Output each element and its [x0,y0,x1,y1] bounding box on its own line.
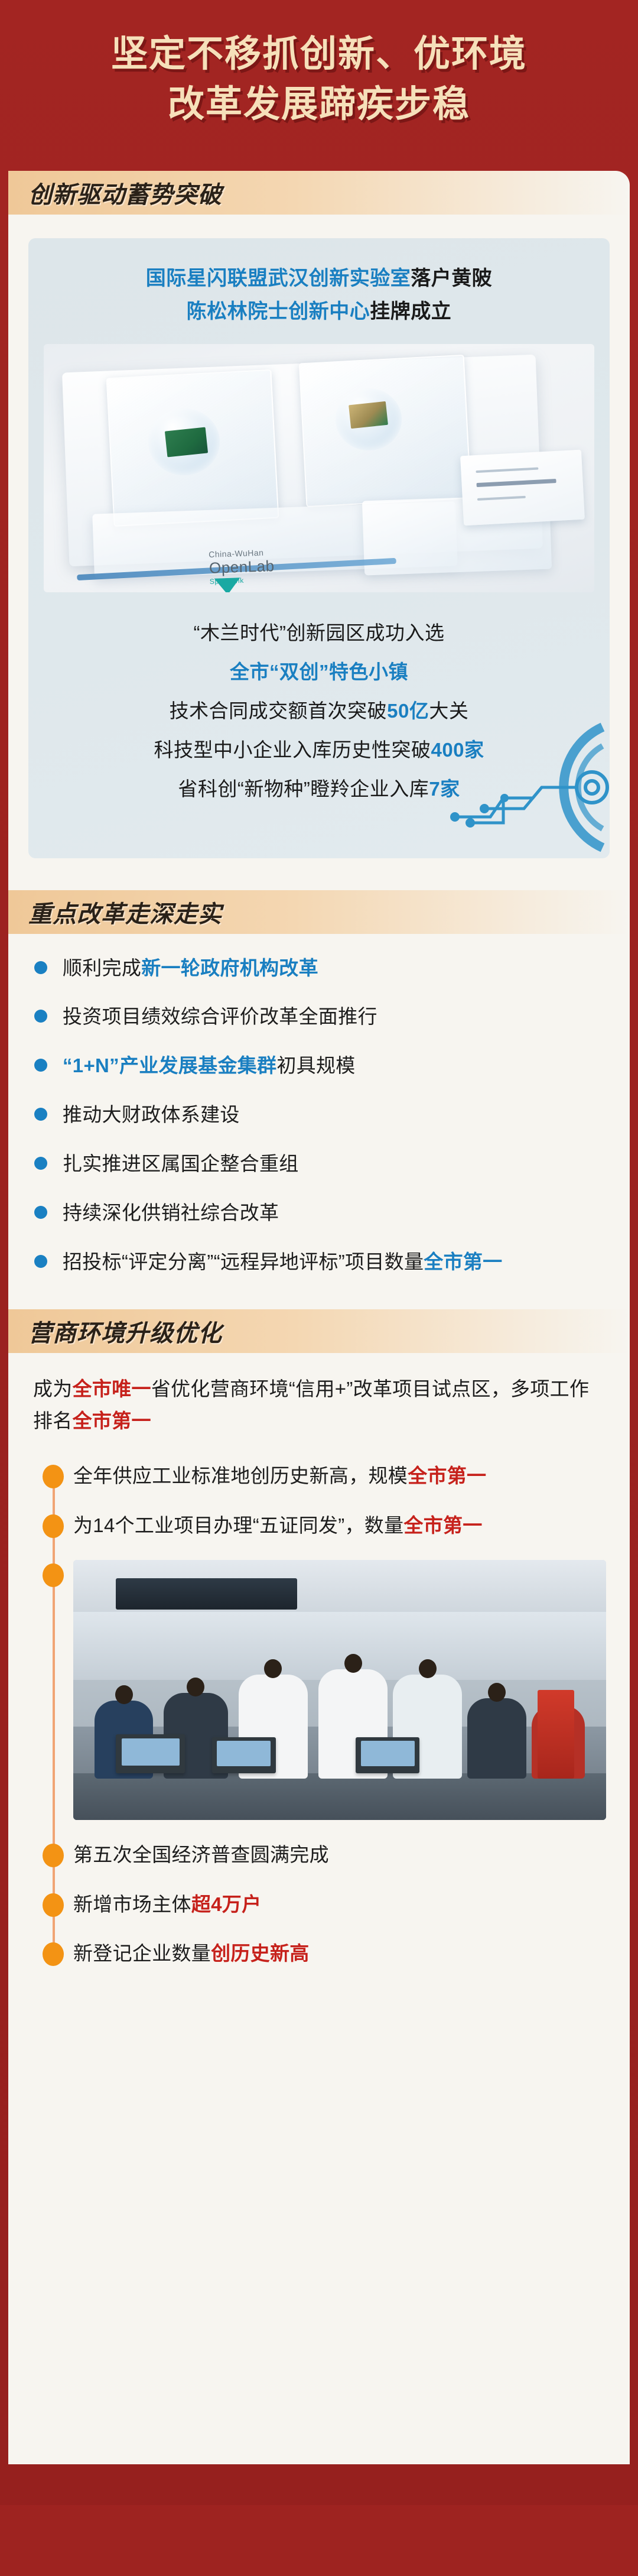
red-standing-banner [538,1690,574,1779]
list-item: 顺利完成新一轮政府机构改革 [34,954,606,983]
timeline-item: 新增市场主体超4万户 [73,1890,606,1919]
text-run: 国际星闪联盟武汉创新实验室 [146,267,411,290]
text-run: 全市第一 [73,1410,151,1432]
innovation-headline: 国际星闪联盟武汉创新实验室落户黄陂 陈松林院士创新中心挂牌成立 [44,262,594,329]
text-run: 推动大财政体系建设 [63,1104,240,1125]
bullet-text: 顺利完成新一轮政府机构改革 [63,954,318,983]
text-run: 持续深化供销社综合改革 [63,1202,279,1224]
bullet-dot-icon [34,1206,47,1219]
achievement-item: 科技型中小企业入库历史性突破400家 [44,731,594,770]
business-env-timeline: 全年供应工业标准地创历史新高，规模全市第一 为14个工业项目办理“五证同发”，数… [43,1461,606,1968]
list-item: 推动大财政体系建设 [34,1101,606,1130]
achievement-item: 全市“双创”特色小镇 [44,653,594,692]
bullet-text: 招投标“评定分离”“远程异地评标”项目数量全市第一 [63,1248,502,1277]
desk-monitor [116,1734,185,1773]
text-run: 第五次全国经济普查圆满完成 [73,1844,329,1866]
bullet-dot-icon [34,1010,47,1023]
text-run: 400家 [431,739,484,761]
timeline-dot-icon [43,1563,64,1587]
text-run: 技术合同成交额首次突破 [170,700,388,722]
text-run: 投资项目绩效综合评价改革全面推行 [63,1005,377,1027]
section-header-business-env: 营商环境升级优化 [8,1309,630,1353]
openlab-logo: China-WuHan OpenLab SparkLink [209,547,275,586]
text-run: 为14个工业项目办理“五证同发”，数量 [73,1514,403,1536]
text-run: 省科创“新物种”瞪羚企业入库 [178,778,429,800]
bullet-dot-icon [34,1255,47,1268]
text-run: 全市第一 [403,1514,482,1536]
bullet-text: “1+N”产业发展基金集群初具规模 [63,1052,356,1081]
openlab-label: OpenLab [209,557,274,578]
timeline-rail [53,1472,55,1955]
timeline-item-photo [73,1560,606,1820]
business-env-intro: 成为全市唯一省优化营商环境“信用+”改革项目试点区，多项工作排名全市第一 [33,1373,606,1436]
headline-line: 国际星闪联盟武汉创新实验室落户黄陂 [44,262,594,295]
bullet-dot-icon [34,961,47,974]
text-run: “1+N”产业发展基金集群 [63,1055,276,1076]
bullet-text: 推动大财政体系建设 [63,1101,240,1130]
text-run: 科技型中小企业入库历史性突破 [154,739,431,761]
bullet-dot-icon [34,1108,47,1121]
text-run: 超4万户 [191,1893,262,1915]
text-run: 扎实推进区属国企整合重组 [63,1153,299,1175]
list-item: 扎实推进区属国企整合重组 [34,1150,606,1179]
section-header-innovation: 创新驱动蓄势突破 [8,171,630,215]
poster-title-line-2: 改革发展蹄疾步稳 [0,81,638,128]
timeline-dot-icon [43,1942,64,1966]
hall-desk [73,1773,606,1820]
text-run: 新一轮政府机构改革 [141,957,318,979]
timeline-text: 为14个工业项目办理“五证同发”，数量全市第一 [73,1511,606,1540]
text-run: 初具规模 [276,1055,355,1076]
content-sheet: 创新驱动蓄势突破 国际星闪联盟武汉创新实验室落户黄陂 陈松林院士创新中心挂牌成立 [8,171,630,2464]
list-item: 投资项目绩效综合评价改革全面推行 [34,1003,606,1031]
timeline-text: 新登记企业数量创历史新高 [73,1939,606,1968]
text-run: 7家 [429,778,460,800]
bullet-text: 扎实推进区属国企整合重组 [63,1150,299,1179]
timeline-dot-icon [43,1514,64,1538]
list-item: “1+N”产业发展基金集群初具规模 [34,1052,606,1081]
text-run: 大关 [429,700,468,722]
desk-monitor [212,1737,276,1774]
timeline-item: 新登记企业数量创历史新高 [73,1939,606,1968]
timeline-text: 全年供应工业标准地创历史新高，规模全市第一 [73,1461,606,1491]
hall-display-board [116,1578,297,1610]
text-run: 新增市场主体 [73,1893,191,1915]
text-run: 陈松林院士创新中心 [187,300,370,323]
section-title-text: 营商环境升级优化 [28,1314,222,1348]
card-stack: 创新驱动蓄势突破 国际星闪联盟武汉创新实验室落户黄陂 陈松林院士创新中心挂牌成立 [0,171,638,2464]
person-figure [467,1698,526,1779]
circuit-chip [165,427,208,458]
headline-line: 陈松林院士创新中心挂牌成立 [44,295,594,328]
section-title-text: 重点改革走深走实 [28,895,222,929]
text-run: “木兰时代”创新园区成功入选 [194,622,445,644]
achievement-item: “木兰时代”创新园区成功入选 [44,614,594,653]
text-run: 全年供应工业标准地创历史新高，规模 [73,1465,408,1487]
bullet-text: 投资项目绩效综合评价改革全面推行 [63,1003,377,1031]
chip-exhibit-photo: China-WuHan OpenLab SparkLink [44,344,594,592]
section-header-reform: 重点改革走深走实 [8,890,630,934]
text-run: 落户黄陂 [411,267,492,290]
bullet-text: 持续深化供销社综合改革 [63,1199,279,1228]
desk-monitor [356,1737,419,1774]
text-run: 成为 [33,1378,73,1400]
text-run: 全市第一 [408,1465,486,1487]
reform-bullet-list: 顺利完成新一轮政府机构改革 投资项目绩效综合评价改革全面推行 “1+N”产业发展… [34,954,606,1277]
timeline-text: 新增市场主体超4万户 [73,1890,606,1919]
text-run: 创历史新高 [211,1942,310,1964]
text-run: 全市第一 [424,1251,502,1273]
timeline-dot-icon [43,1893,64,1917]
innovation-achievements: “木兰时代”创新园区成功入选 全市“双创”特色小镇 技术合同成交额首次突破50亿… [44,614,594,809]
list-item: 招投标“评定分离”“远程异地评标”项目数量全市第一 [34,1248,606,1277]
timeline-dot-icon [43,1465,64,1488]
footer-bar [0,2505,638,2576]
bullet-dot-icon [34,1157,47,1170]
timeline-dot-icon [43,1844,64,1867]
sparklink-label: SparkLink [209,575,275,586]
timeline-item: 第五次全国经济普查圆满完成 [73,1840,606,1870]
text-run: 全市“双创”特色小镇 [230,661,408,683]
hero-banner: 坚定不移抓创新、优环境 改革发展蹄疾步稳 [0,0,638,148]
service-hall-photo [73,1560,606,1820]
timeline-item: 全年供应工业标准地创历史新高，规模全市第一 [73,1461,606,1491]
achievement-item: 省科创“新物种”瞪羚企业入库7家 [44,770,594,809]
text-run: 50亿 [387,700,429,722]
achievement-item: 技术合同成交额首次突破50亿大关 [44,692,594,731]
circuit-chip [349,401,388,429]
text-run: 招投标“评定分离”“远程异地评标”项目数量 [63,1251,424,1273]
text-run: 顺利完成 [63,957,141,979]
poster-title-line-1: 坚定不移抓创新、优环境 [0,31,638,77]
timeline-item: 为14个工业项目办理“五证同发”，数量全市第一 [73,1511,606,1540]
text-run: 新登记企业数量 [73,1942,211,1964]
info-placard [460,450,585,525]
poster-root: 坚定不移抓创新、优环境 改革发展蹄疾步稳 创新驱动蓄势突破 国际星闪联盟武汉创新… [0,0,638,2576]
text-run: 全市唯一 [73,1378,151,1400]
section-title-text: 创新驱动蓄势突破 [28,176,222,210]
bullet-dot-icon [34,1059,47,1072]
timeline-text: 第五次全国经济普查圆满完成 [73,1840,606,1870]
innovation-panel: 国际星闪联盟武汉创新实验室落户黄陂 陈松林院士创新中心挂牌成立 [28,238,610,858]
text-run: 挂牌成立 [370,300,451,323]
list-item: 持续深化供销社综合改革 [34,1199,606,1228]
